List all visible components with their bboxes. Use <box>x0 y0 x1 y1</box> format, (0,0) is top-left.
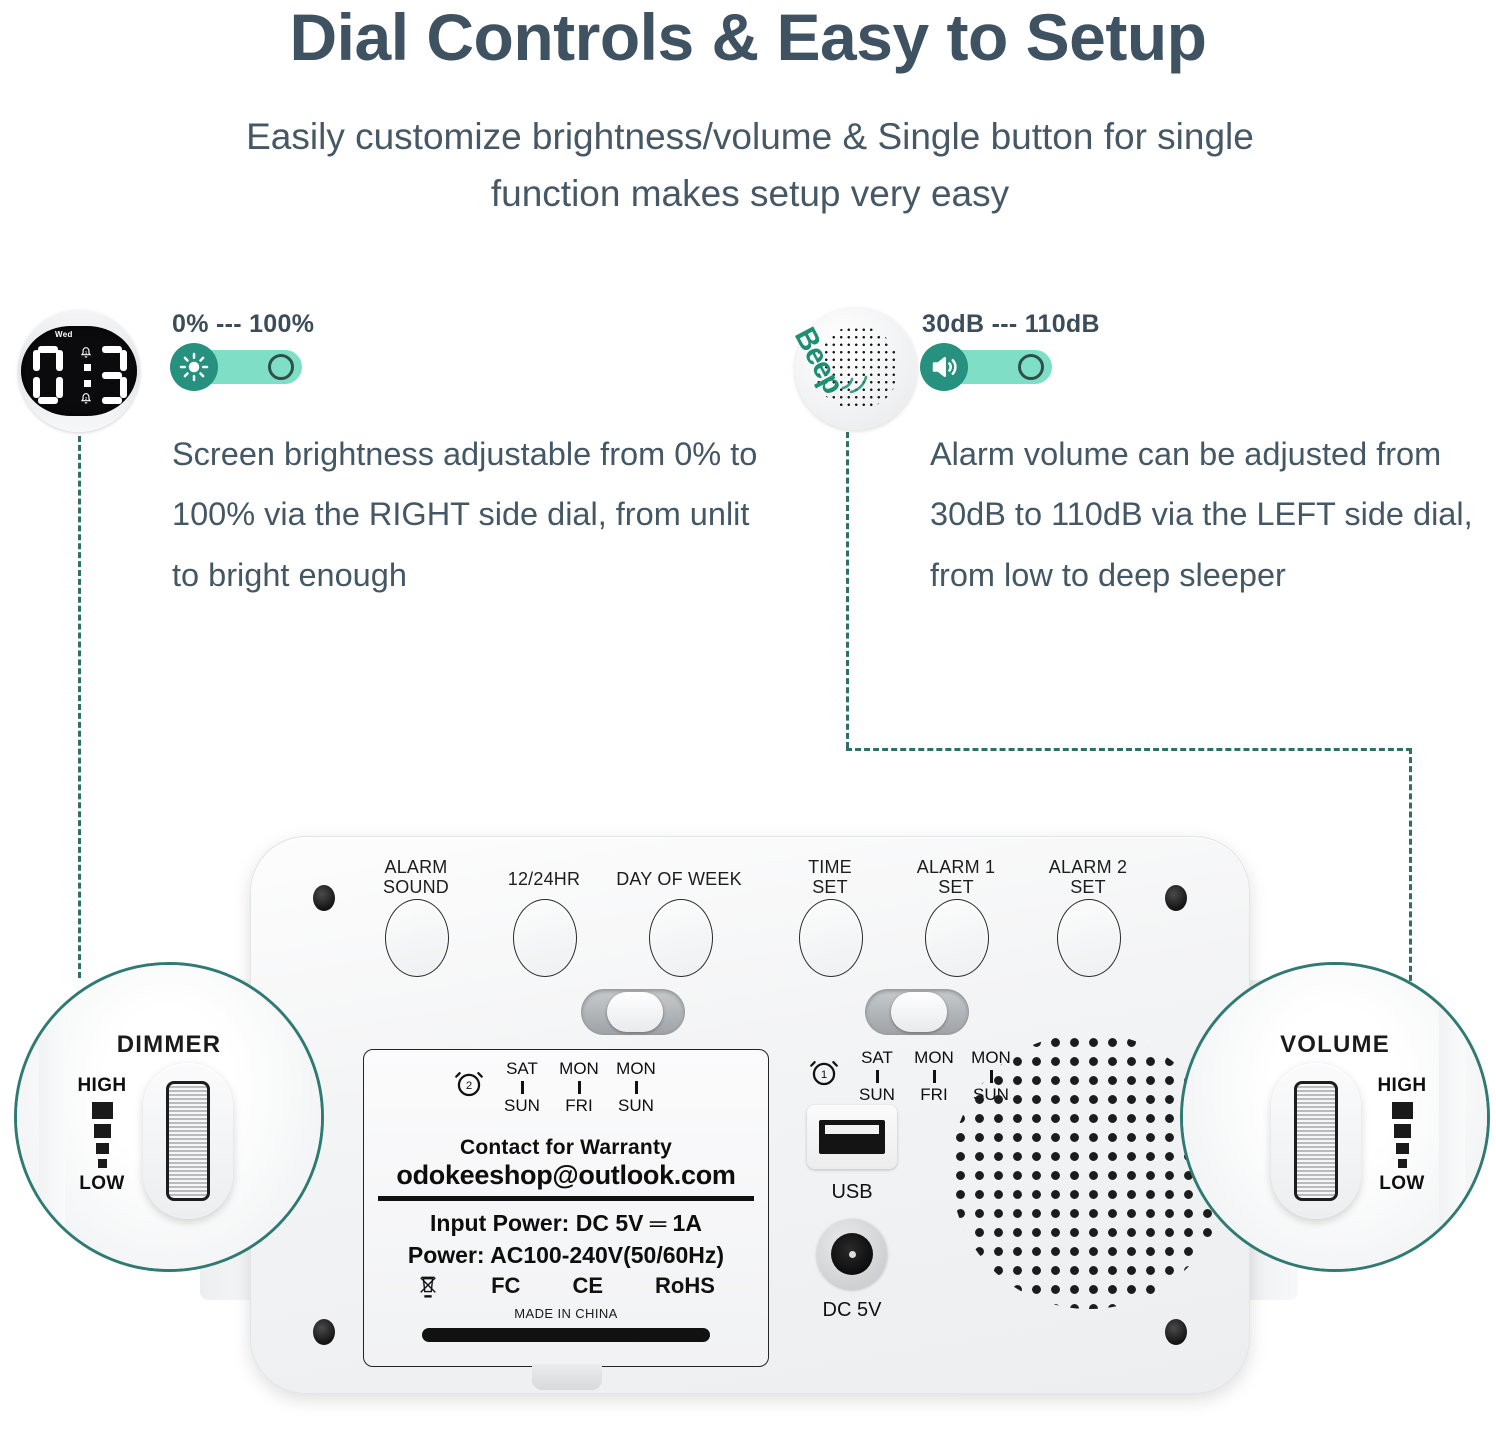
clock-back-panel: ALARM SOUND 12/24HR DAY OF WEEK TIME SET… <box>206 836 1292 1396</box>
rohs-mark: RoHS <box>655 1275 715 1297</box>
alarm1-day-top-2: MON <box>914 1048 954 1067</box>
button-alarm1-set[interactable] <box>925 899 989 977</box>
volume-scale: HIGH LOW <box>1369 1075 1435 1195</box>
alarm1-daycol-2: MON FRI <box>907 1049 961 1104</box>
alarm2-daycol-2: MON FRI <box>552 1060 606 1115</box>
device-body: ALARM SOUND 12/24HR DAY OF WEEK TIME SET… <box>250 836 1250 1394</box>
button-label-alarm2-set: ALARM 2 SET <box>1021 857 1155 897</box>
button-time-set[interactable] <box>799 899 863 977</box>
alarm2-day-top-2: MON <box>559 1059 599 1078</box>
made-in-label: MADE IN CHINA <box>364 1306 768 1321</box>
dimmer-dial-wheel[interactable] <box>166 1081 210 1201</box>
button-label-alarm1-set: ALARM 1 SET <box>889 857 1023 897</box>
battery-door-tab[interactable] <box>532 1364 602 1390</box>
alarm1-switch-cap[interactable] <box>891 992 947 1032</box>
spec-label-plate: 2 SAT SUN MON FRI MON S <box>363 1049 769 1367</box>
led-digit-3 <box>97 346 127 404</box>
warranty-contact-label: Contact for Warranty <box>364 1136 768 1160</box>
alarm2-daycol-1: SAT SUN <box>495 1060 549 1115</box>
led-clock-face: Wed 1 <box>21 326 137 416</box>
button-day-of-week[interactable] <box>649 899 713 977</box>
ce-mark: CE <box>572 1275 603 1297</box>
dimmer-high-label: HIGH <box>69 1075 135 1097</box>
svg-text:2: 2 <box>466 1080 472 1092</box>
volume-slider[interactable] <box>928 350 1052 384</box>
alarm1-day-bottom-2: FRI <box>920 1085 947 1104</box>
alarm2-tick-3 <box>635 1081 638 1094</box>
alarm2-slide-switch[interactable] <box>581 989 685 1035</box>
dc-label: DC 5V <box>797 1299 907 1322</box>
page-subtitle: Easily customize brightness/volume & Sin… <box>180 108 1320 223</box>
volume-icon <box>920 343 968 391</box>
volume-low-label: LOW <box>1369 1173 1435 1195</box>
volume-description: Alarm volume can be adjusted from 30dB t… <box>930 424 1496 605</box>
usb-port-tongue <box>825 1125 879 1134</box>
alarm1-slide-switch[interactable] <box>865 989 969 1035</box>
input-power-spec: Input Power: DC 5V ═ 1A <box>364 1210 768 1237</box>
fcc-mark: FC <box>491 1275 520 1297</box>
usb-port-cavity <box>819 1120 885 1154</box>
page-title: Dial Controls & Easy to Setup <box>0 2 1496 73</box>
alarm2-tick-2 <box>578 1081 581 1094</box>
alarm2-daycol-3: MON SUN <box>609 1060 663 1115</box>
warranty-email: odokeeshop@outlook.com <box>364 1160 768 1191</box>
dimmer-label: DIMMER <box>17 1031 321 1059</box>
weee-bin-icon <box>417 1272 439 1300</box>
volume-dial-wheel[interactable] <box>1294 1081 1338 1201</box>
dimmer-scale-bars <box>69 1102 135 1168</box>
alarm1-tick-1 <box>876 1070 879 1083</box>
volume-scale-bars <box>1369 1102 1435 1168</box>
volume-slider-knob[interactable] <box>1018 354 1044 380</box>
button-12-24hr[interactable] <box>513 899 577 977</box>
volume-callout-surface: VOLUME HIGH LOW <box>1183 965 1487 1269</box>
infographic-stage: Dial Controls & Easy to Setup Easily cus… <box>0 0 1496 1429</box>
usb-label: USB <box>807 1181 897 1204</box>
alarm2-day-top-1: SAT <box>506 1059 538 1078</box>
brightness-icon <box>170 343 218 391</box>
screw-bottom-right <box>1165 1319 1187 1345</box>
button-label-time-set: TIME SET <box>769 857 891 897</box>
alarm-1-bell-icon: 1 <box>78 344 94 360</box>
screw-top-left <box>313 885 335 911</box>
brightness-description: Screen brightness adjustable from 0% to … <box>172 424 768 605</box>
battery-compartment-slot <box>422 1328 710 1342</box>
alarm2-day-bottom-2: FRI <box>565 1096 592 1115</box>
led-clock-thumbnail: Wed 1 <box>18 310 140 432</box>
brightness-slider-knob[interactable] <box>268 354 294 380</box>
dimmer-callout: DIMMER HIGH LOW <box>14 962 324 1272</box>
alarm2-day-top-3: MON <box>616 1059 656 1078</box>
dc-power-jack[interactable] <box>817 1219 887 1289</box>
button-label-12-24hr: 12/24HR <box>483 869 605 889</box>
connector-right-vertical-1 <box>846 432 849 748</box>
ac-power-spec: Power: AC100-240V(50/60Hz) <box>364 1242 768 1269</box>
dimmer-scale: HIGH LOW <box>69 1075 135 1195</box>
alarm-2-bell-icon: 2 <box>78 390 94 406</box>
screw-top-right <box>1165 885 1187 911</box>
alarm2-day-bottom-1: SUN <box>504 1096 540 1115</box>
alarm1-day-top-1: SAT <box>861 1048 893 1067</box>
alarm2-day-selector: 2 SAT SUN MON FRI MON S <box>452 1060 663 1115</box>
alarm2-day-bottom-3: SUN <box>618 1096 654 1115</box>
volume-label: VOLUME <box>1183 1031 1487 1059</box>
led-weekday-label: Wed <box>55 330 73 339</box>
volume-range-label: 30dB --- 110dB <box>922 310 1100 339</box>
dimmer-low-label: LOW <box>69 1173 135 1195</box>
button-alarm2-set[interactable] <box>1057 899 1121 977</box>
alarm1-daycol-1: SAT SUN <box>850 1049 904 1104</box>
dimmer-dial-housing[interactable] <box>143 1063 233 1219</box>
button-alarm-sound[interactable] <box>385 899 449 977</box>
led-colon-dot-top <box>84 364 91 371</box>
alarm1-day-bottom-1: SUN <box>859 1085 895 1104</box>
led-digit-0 <box>33 346 63 404</box>
button-label-day-of-week: DAY OF WEEK <box>589 869 769 889</box>
plate-divider <box>378 1196 754 1201</box>
brightness-range-label: 0% --- 100% <box>172 310 314 339</box>
led-colon-dot-bottom <box>84 380 91 387</box>
volume-dial-housing[interactable] <box>1271 1063 1361 1219</box>
usb-port[interactable] <box>807 1105 897 1169</box>
svg-text:2: 2 <box>85 396 88 401</box>
svg-text:1: 1 <box>85 350 88 355</box>
alarm2-tick-1 <box>521 1081 524 1094</box>
volume-callout: VOLUME HIGH LOW <box>1180 962 1490 1272</box>
volume-high-label: HIGH <box>1369 1075 1435 1097</box>
certification-row: FC CE RoHS <box>364 1272 768 1300</box>
speaker-thumbnail: Beep <box>795 308 917 430</box>
brightness-slider[interactable] <box>178 350 302 384</box>
alarm2-switch-cap[interactable] <box>607 992 663 1032</box>
alarm-clock-2-icon: 2 <box>452 1066 486 1100</box>
screw-bottom-left <box>313 1319 335 1345</box>
connector-right-horizontal <box>846 748 1412 751</box>
alarm-clock-1-icon: 1 <box>807 1055 841 1089</box>
dc-jack-pin <box>849 1251 856 1258</box>
button-label-alarm-sound: ALARM SOUND <box>355 857 477 897</box>
connector-left-vertical <box>78 436 81 978</box>
svg-text:1: 1 <box>821 1069 827 1081</box>
dc-jack-cavity <box>831 1233 873 1275</box>
alarm1-tick-2 <box>933 1070 936 1083</box>
dimmer-callout-surface: DIMMER HIGH LOW <box>17 965 321 1269</box>
